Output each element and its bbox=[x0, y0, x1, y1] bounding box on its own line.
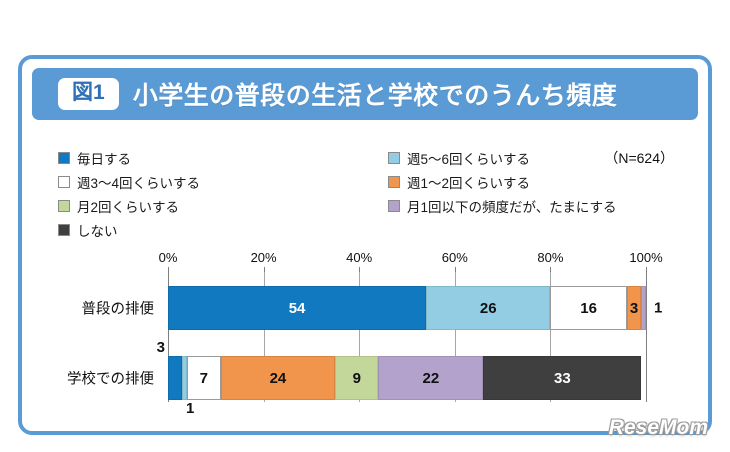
x-axis-tick-mark bbox=[646, 267, 647, 272]
bar-segment[interactable]: 54 bbox=[168, 286, 426, 330]
legend-item[interactable]: 月2回くらいする bbox=[58, 196, 388, 216]
bar-row: 学校での排便3172492233 bbox=[168, 356, 646, 400]
legend-swatch-icon bbox=[58, 224, 70, 236]
legend-grid: 毎日する週5〜6回くらいする週3〜4回くらいする週1〜2回くらいする月2回くらい… bbox=[58, 148, 678, 240]
bar-segment[interactable]: 7 bbox=[187, 356, 220, 400]
x-axis-tick-label: 40% bbox=[346, 250, 372, 265]
bar-segment[interactable] bbox=[168, 356, 182, 400]
legend-item[interactable]: 毎日する bbox=[58, 148, 388, 168]
legend-item-label: 週1〜2回くらいする bbox=[407, 172, 530, 192]
bar-segment[interactable]: 26 bbox=[426, 286, 550, 330]
legend-item-label: 毎日する bbox=[77, 148, 131, 168]
category-label: 学校での排便 bbox=[18, 368, 168, 389]
x-axis-tick-mark bbox=[168, 267, 169, 272]
page-title: 小学生の普段の生活と学校でのうんち頻度 bbox=[133, 76, 618, 112]
legend-item[interactable]: しない bbox=[58, 220, 388, 240]
bar-value-label: 3 bbox=[630, 300, 638, 317]
legend-swatch-icon bbox=[388, 176, 400, 188]
legend-item-label: しない bbox=[77, 220, 118, 240]
bar-value-label: 7 bbox=[200, 370, 208, 387]
x-axis-tick-labels: 0%20%40%60%80%100% bbox=[168, 250, 646, 270]
bar-segment[interactable] bbox=[641, 286, 646, 330]
legend-item[interactable]: 週3〜4回くらいする bbox=[58, 172, 388, 192]
bar-value-label: 54 bbox=[289, 300, 306, 317]
legend-swatch-icon bbox=[58, 200, 70, 212]
bar-value-label: 1 bbox=[654, 300, 662, 317]
sample-size-note: （N=624） bbox=[604, 148, 674, 168]
legend-item-label: 週5〜6回くらいする bbox=[407, 148, 530, 168]
bar-value-label: 24 bbox=[270, 370, 287, 387]
bar-row: 普段の排便54261631 bbox=[168, 286, 646, 330]
bar-value-label: 1 bbox=[186, 400, 194, 417]
bar-segment[interactable]: 22 bbox=[378, 356, 483, 400]
legend-item-label: 月1回以下の頻度だが、たまにする bbox=[407, 196, 616, 216]
bar-value-label: 22 bbox=[423, 370, 440, 387]
legend-item-label: 週3〜4回くらいする bbox=[77, 172, 200, 192]
x-axis-tick-label: 0% bbox=[159, 250, 178, 265]
category-label: 普段の排便 bbox=[18, 298, 168, 319]
bar-segment[interactable]: 3 bbox=[627, 286, 641, 330]
bar-segment[interactable]: 9 bbox=[335, 356, 378, 400]
x-axis-tick-label: 80% bbox=[537, 250, 563, 265]
bar-value-label: 33 bbox=[554, 370, 571, 387]
bar-segment[interactable]: 16 bbox=[550, 286, 626, 330]
legend-item[interactable]: 月1回以下の頻度だが、たまにする bbox=[388, 196, 688, 216]
chart-legend: （N=624） 毎日する週5〜6回くらいする週3〜4回くらいする週1〜2回くらい… bbox=[58, 148, 678, 240]
bar-value-label: 3 bbox=[157, 339, 165, 356]
bar-segment[interactable]: 24 bbox=[221, 356, 336, 400]
legend-swatch-icon bbox=[58, 152, 70, 164]
watermark: ReseMom bbox=[609, 416, 708, 440]
plot-right-border bbox=[646, 272, 647, 402]
figure-number-badge: 図1 bbox=[58, 78, 119, 109]
legend-swatch-icon bbox=[388, 152, 400, 164]
x-axis-tick-label: 100% bbox=[629, 250, 662, 265]
legend-swatch-icon bbox=[58, 176, 70, 188]
bar-value-label: 9 bbox=[353, 370, 361, 387]
bar-value-label: 26 bbox=[480, 300, 497, 317]
legend-item-label: 月2回くらいする bbox=[77, 196, 179, 216]
bar-segment[interactable]: 33 bbox=[483, 356, 641, 400]
legend-spacer bbox=[388, 220, 688, 240]
x-axis-tick-label: 60% bbox=[442, 250, 468, 265]
legend-swatch-icon bbox=[388, 200, 400, 212]
x-axis-tick-label: 20% bbox=[251, 250, 277, 265]
bar-value-label: 16 bbox=[580, 300, 597, 317]
stacked-bar-chart: 普段の排便54261631学校での排便3172492233 bbox=[168, 272, 646, 402]
figure-title-bar: 図1 小学生の普段の生活と学校でのうんち頻度 bbox=[32, 68, 698, 120]
legend-item[interactable]: 週1〜2回くらいする bbox=[388, 172, 688, 192]
